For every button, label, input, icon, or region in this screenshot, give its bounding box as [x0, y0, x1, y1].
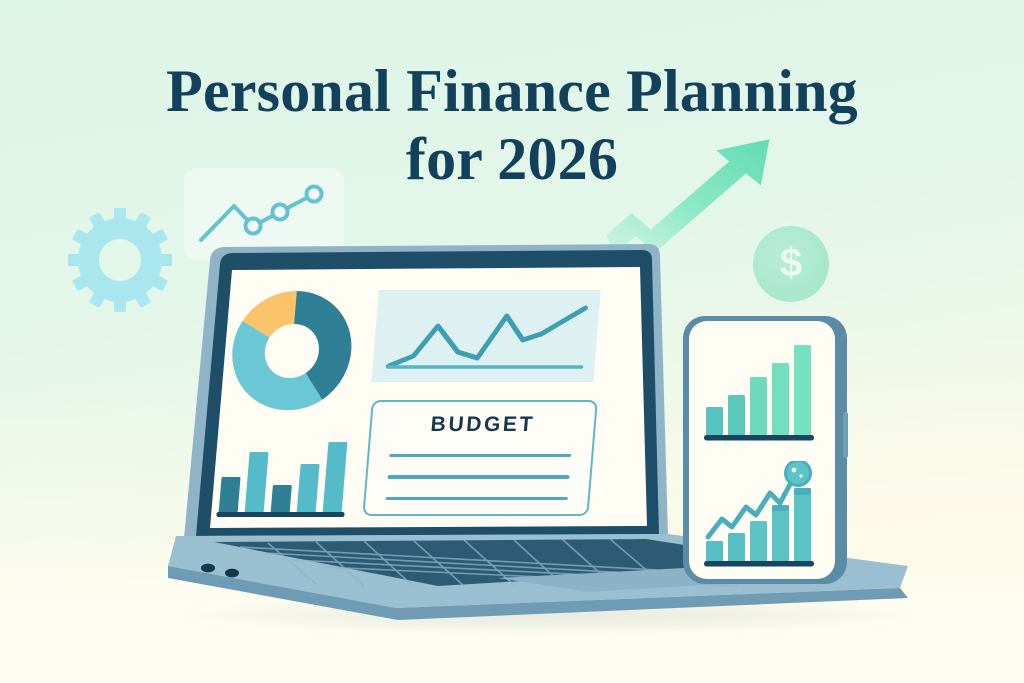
- line-chart-panel: [371, 290, 601, 382]
- phone-bar-4: [772, 363, 789, 436]
- budget-card-heading: BUDGET: [371, 413, 595, 437]
- phone-screen: [689, 321, 835, 579]
- phone-combo-bar-4: [772, 509, 789, 562]
- bar-5: [323, 442, 348, 513]
- illustration-canvas: Personal Finance Planning for 2026: [0, 0, 1024, 683]
- phone-combo-bar-5: [794, 493, 811, 562]
- phone-bar-2: [728, 395, 745, 436]
- title-line-2: for 2026: [0, 126, 1024, 194]
- budget-line-2: [387, 475, 569, 478]
- phone-bar-chart: [702, 339, 822, 443]
- phone-combo-baseline: [704, 561, 814, 567]
- phone-combo-cap-5: [794, 488, 811, 495]
- donut-chart: [222, 286, 363, 416]
- phone-bar-3: [750, 377, 767, 436]
- page-title: Personal Finance Planning for 2026: [0, 58, 1024, 194]
- bar-chart-baseline: [216, 512, 344, 517]
- bar-2: [245, 452, 269, 513]
- budget-card-lines: [384, 454, 571, 518]
- phone-bar-5: [794, 345, 811, 436]
- phone-combo-bar-3: [750, 521, 767, 562]
- bar-4: [297, 464, 320, 513]
- budget-line-3: [386, 497, 568, 500]
- phone-combo-bar-2: [728, 533, 745, 562]
- phone-bar-baseline: [704, 435, 814, 441]
- line-chart: [371, 290, 601, 382]
- phone-side-button[interactable]: [843, 412, 848, 458]
- bar-chart: [214, 432, 353, 518]
- laptop-port-1: [201, 564, 215, 573]
- phone-combo-chart: [702, 461, 822, 569]
- smartphone-device: [683, 316, 847, 584]
- phone-combo-bar-1: [706, 541, 723, 562]
- phone-bar-1: [706, 407, 723, 436]
- budget-card: BUDGET: [362, 400, 598, 516]
- bar-1: [219, 477, 241, 513]
- budget-line-1: [389, 454, 571, 457]
- bar-3: [271, 485, 292, 513]
- laptop-port-2: [225, 569, 239, 578]
- laptop-screen-content: BUDGET: [172, 252, 644, 540]
- phone-combo-cap-4: [772, 505, 789, 511]
- title-line-1: Personal Finance Planning: [166, 58, 858, 124]
- magnifier-icon: [786, 461, 811, 486]
